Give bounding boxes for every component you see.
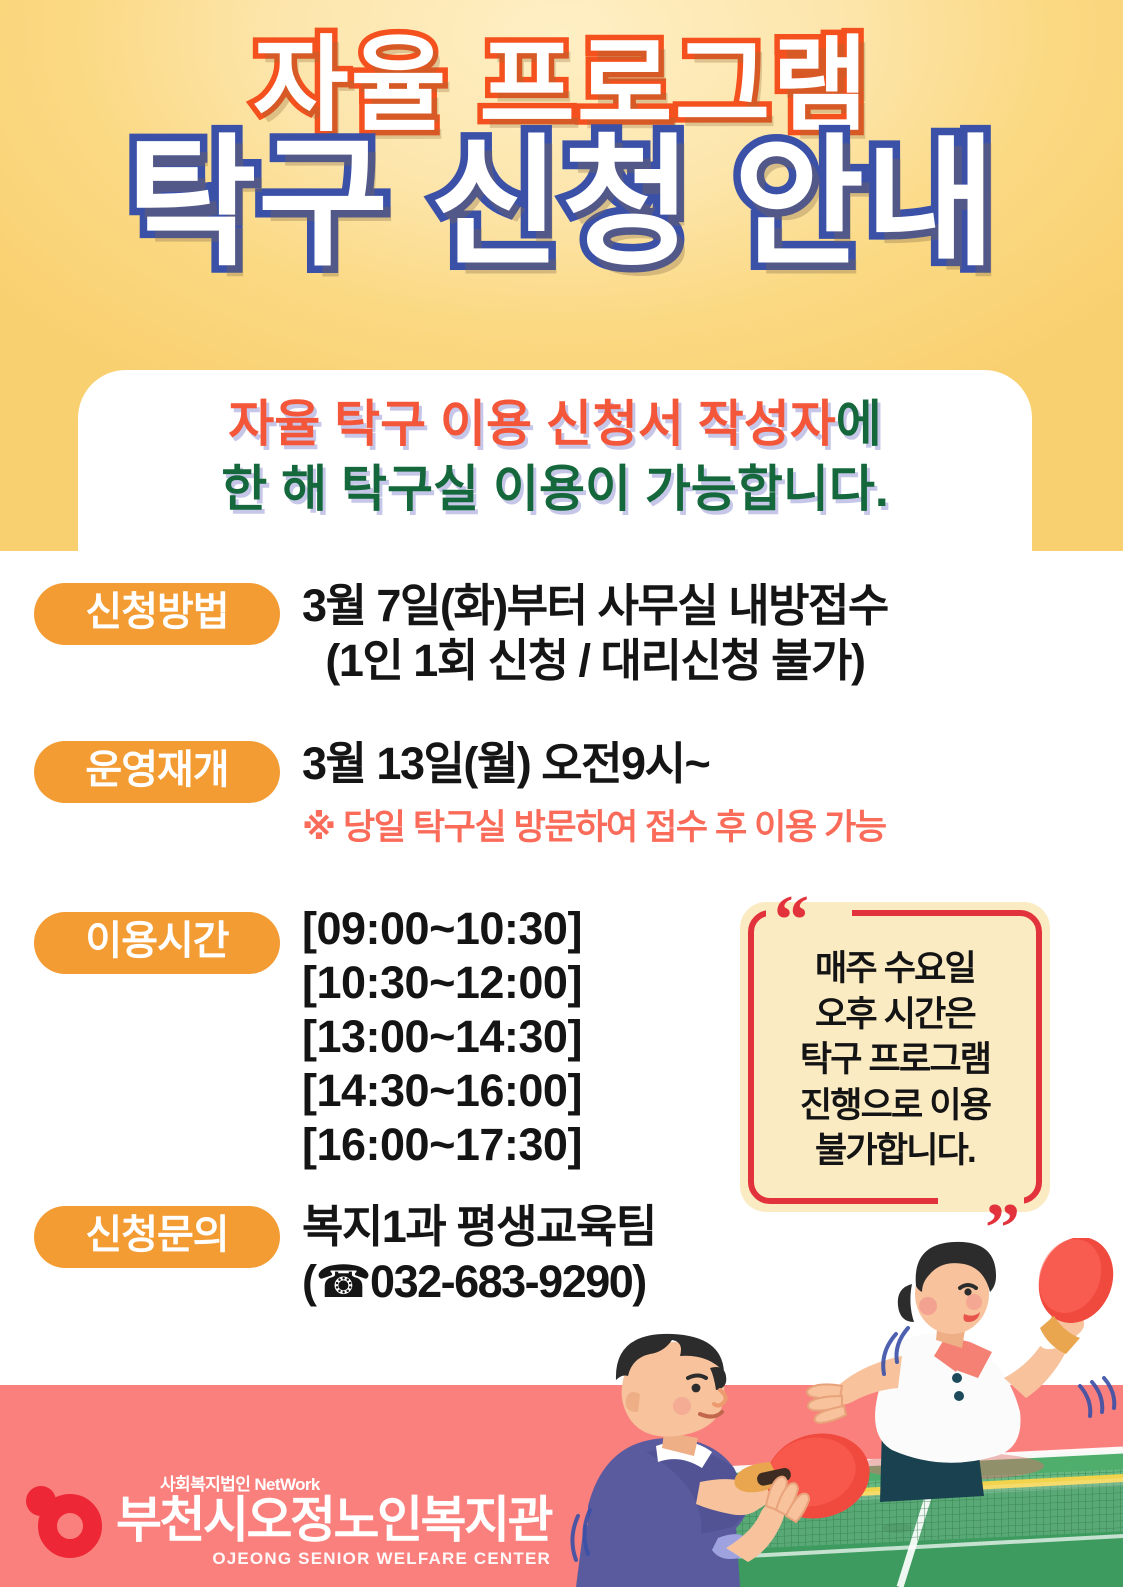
subtitle-orange-text: 자율 탁구 이용 신청서 작성자	[228, 396, 836, 452]
badge-usage-hours: 이용시간	[34, 912, 280, 974]
logo-name-en: OJEONG SENIOR WELFARE CENTER	[116, 1549, 551, 1569]
logo-text-block: 사회복지법인 NetWork 부천시오정노인복지관 OJEONG SENIOR …	[116, 1470, 551, 1569]
time-slot-4: [14:30~16:00]	[302, 1064, 582, 1118]
info-row-application-method: 신청방법 3월 7일(화)부터 사무실 내방접수 (1인 1회 신청 / 대리신…	[0, 583, 1123, 689]
subtitle-line-2: 한 해 탁구실 이용이 가능합니다.	[78, 457, 1032, 522]
poster-root: 자율 프로그램 탁구 신청 안내 자율 탁구 이용 신청서 작성자에 한 해 탁…	[0, 0, 1123, 1587]
time-slot-2: [10:30~12:00]	[302, 956, 582, 1010]
reopen-line-1: 3월 13일(월) 오전9시~	[302, 737, 886, 792]
notice-text-block: 매주 수요일 오후 시간은 탁구 프로그램 진행으로 이용 불가합니다.	[740, 946, 1050, 1174]
badge-contact: 신청문의	[34, 1206, 280, 1268]
badge-application-method: 신청방법	[34, 583, 280, 645]
time-slot-5: [16:00~17:30]	[302, 1118, 582, 1172]
time-slot-3: [13:00~14:30]	[302, 1010, 582, 1064]
application-method-line-2: (1인 1회 신청 / 대리신청 불가)	[302, 634, 888, 689]
subtitle-green-tail: 에	[836, 396, 882, 452]
application-method-line-1: 3월 7일(화)부터 사무실 내방접수	[302, 579, 888, 634]
wednesday-notice-bubble: “ ” 매주 수요일 오후 시간은 탁구 프로그램 진행으로 이용 불가합니다.	[740, 902, 1050, 1212]
info-row-reopen: 운영재개 3월 13일(월) 오전9시~ ※ 당일 탁구실 방문하여 접수 후 …	[0, 741, 1123, 851]
notice-line-1: 매주 수요일	[740, 946, 1050, 992]
paddle-female	[1026, 1238, 1123, 1354]
table-tennis-illustration	[560, 1238, 1123, 1587]
subtitle-line-1: 자율 탁구 이용 신청서 작성자에	[78, 392, 1032, 457]
notice-line-4: 진행으로 이용	[740, 1083, 1050, 1129]
row-body-reopen: 3월 13일(월) 오전9시~ ※ 당일 탁구실 방문하여 접수 후 이용 가능	[302, 737, 886, 851]
title-line-2: 탁구 신청 안내	[0, 132, 1123, 277]
row-body-usage-hours: [09:00~10:30] [10:30~12:00] [13:00~14:30…	[302, 902, 582, 1172]
row-body-application-method: 3월 7일(화)부터 사무실 내방접수 (1인 1회 신청 / 대리신청 불가)	[302, 579, 888, 689]
subtitle-block: 자율 탁구 이용 신청서 작성자에 한 해 탁구실 이용이 가능합니다.	[78, 392, 1032, 522]
title-line-1: 자율 프로그램	[0, 34, 1123, 138]
reopen-note: ※ 당일 탁구실 방문하여 접수 후 이용 가능	[302, 806, 886, 851]
organization-logo: 사회복지법인 NetWork 부천시오정노인복지관 OJEONG SENIOR …	[26, 1470, 551, 1569]
notice-line-3: 탁구 프로그램	[740, 1037, 1050, 1083]
logo-name-ko: 부천시오정노인복지관	[116, 1494, 551, 1547]
time-slot-1: [09:00~10:30]	[302, 902, 582, 956]
poster-title-block: 자율 프로그램 탁구 신청 안내	[0, 0, 1123, 277]
notice-line-5: 불가합니다.	[740, 1128, 1050, 1174]
logo-mark-icon	[26, 1480, 104, 1558]
badge-reopen: 운영재개	[34, 741, 280, 803]
notice-line-2: 오후 시간은	[740, 992, 1050, 1038]
